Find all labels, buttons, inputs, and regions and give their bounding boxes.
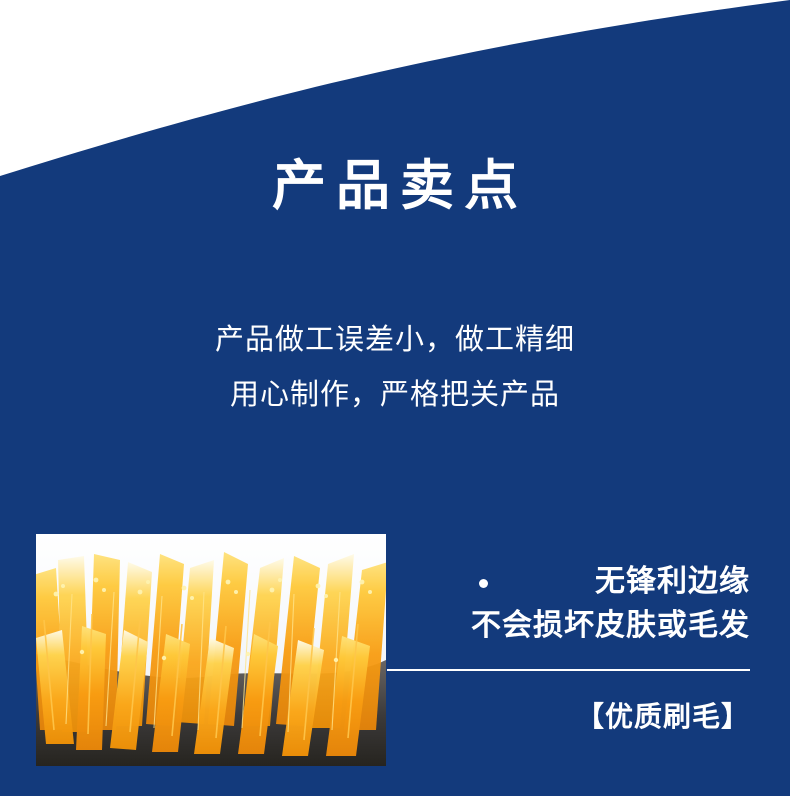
feature-text-column: 无锋利边缘 不会损坏皮肤或毛发 xyxy=(400,560,750,648)
feature-tag-label: 【优质刷毛】 xyxy=(400,697,750,737)
feature-row-1: 无锋利边缘 xyxy=(400,560,750,604)
feature-line-1: 无锋利边缘 xyxy=(595,560,750,604)
page-title: 产品卖点 xyxy=(0,155,790,217)
brush-bristles-photo xyxy=(36,534,386,766)
subheadline-line-2: 用心制作，严格把关产品 xyxy=(0,368,790,423)
feature-divider xyxy=(387,669,750,671)
subheadline-block: 产品做工误差小，做工精细 用心制作，严格把关产品 xyxy=(0,313,790,423)
subheadline-line-1: 产品做工误差小，做工精细 xyxy=(0,313,790,368)
product-selling-points-page: 产品卖点 产品做工误差小，做工精细 用心制作，严格把关产品 xyxy=(0,0,790,796)
bullet-dot-icon xyxy=(479,579,488,588)
feature-line-2: 不会损坏皮肤或毛发 xyxy=(400,604,750,648)
